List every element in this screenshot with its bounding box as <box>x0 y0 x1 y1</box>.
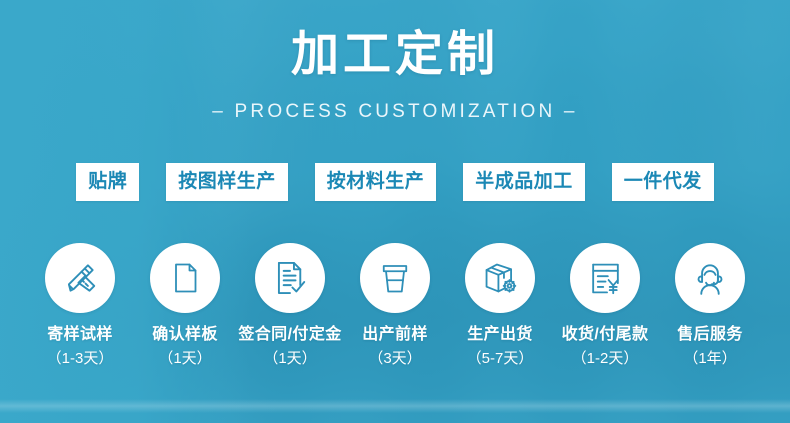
step-duration: （1年） <box>683 349 736 368</box>
service-tag-by-drawing[interactable]: 按图样生产 <box>166 163 288 201</box>
pencil-ruler-icon <box>61 259 99 297</box>
service-tag-row: 贴牌 按图样生产 按材料生产 半成品加工 一件代发 <box>0 163 790 201</box>
step-duration: （1-3天） <box>47 349 114 368</box>
step-icon-circle <box>150 243 220 313</box>
step-icon-circle <box>465 243 535 313</box>
page-subtitle: – PROCESS CUSTOMIZATION – <box>0 100 790 124</box>
process-step[interactable]: 寄样试样 （1-3天） <box>28 243 133 368</box>
page-title: 加工定制 <box>0 26 790 84</box>
step-icon-circle <box>360 243 430 313</box>
service-tag-by-material[interactable]: 按材料生产 <box>315 163 437 201</box>
step-name: 确认样板 <box>152 325 218 345</box>
step-duration: （5-7天） <box>467 349 534 368</box>
process-step[interactable]: 生产出货 （5-7天） <box>448 243 553 368</box>
invoice-yuan-icon <box>587 260 624 297</box>
headset-support-icon <box>691 259 729 297</box>
service-tag-semi-finished[interactable]: 半成品加工 <box>463 163 585 201</box>
step-duration: （1天） <box>158 349 211 368</box>
step-name: 寄样试样 <box>47 325 113 345</box>
step-icon-circle <box>45 243 115 313</box>
step-name: 收货/付尾款 <box>562 325 649 345</box>
step-duration: （3天） <box>368 349 421 368</box>
process-step[interactable]: 签合同/付定金 （1天） <box>238 243 343 368</box>
step-duration: （1-2天） <box>572 349 639 368</box>
document-page-icon <box>167 260 203 296</box>
box-gear-icon <box>481 259 519 297</box>
background-bottom-band <box>0 399 790 413</box>
process-step[interactable]: 售后服务 （1年） <box>658 243 763 368</box>
step-name: 出产前样 <box>362 325 428 345</box>
process-step[interactable]: 出产前样 （3天） <box>343 243 448 368</box>
cup-container-icon <box>377 260 413 296</box>
step-icon-circle <box>570 243 640 313</box>
service-tag-oem[interactable]: 贴牌 <box>76 163 139 201</box>
document-check-icon <box>271 259 309 297</box>
step-duration: （1天） <box>263 349 316 368</box>
step-icon-circle <box>255 243 325 313</box>
step-name: 售后服务 <box>677 325 743 345</box>
step-name: 生产出货 <box>467 325 533 345</box>
process-step-list: 寄样试样 （1-3天） 确认样板 （1天） <box>0 243 790 368</box>
process-customization-banner: 加工定制 – PROCESS CUSTOMIZATION – 贴牌 按图样生产 … <box>0 0 790 423</box>
process-step[interactable]: 收货/付尾款 （1-2天） <box>553 243 658 368</box>
step-name: 签合同/付定金 <box>238 325 341 345</box>
service-tag-dropshipping[interactable]: 一件代发 <box>612 163 714 201</box>
process-step[interactable]: 确认样板 （1天） <box>133 243 238 368</box>
step-icon-circle <box>675 243 745 313</box>
